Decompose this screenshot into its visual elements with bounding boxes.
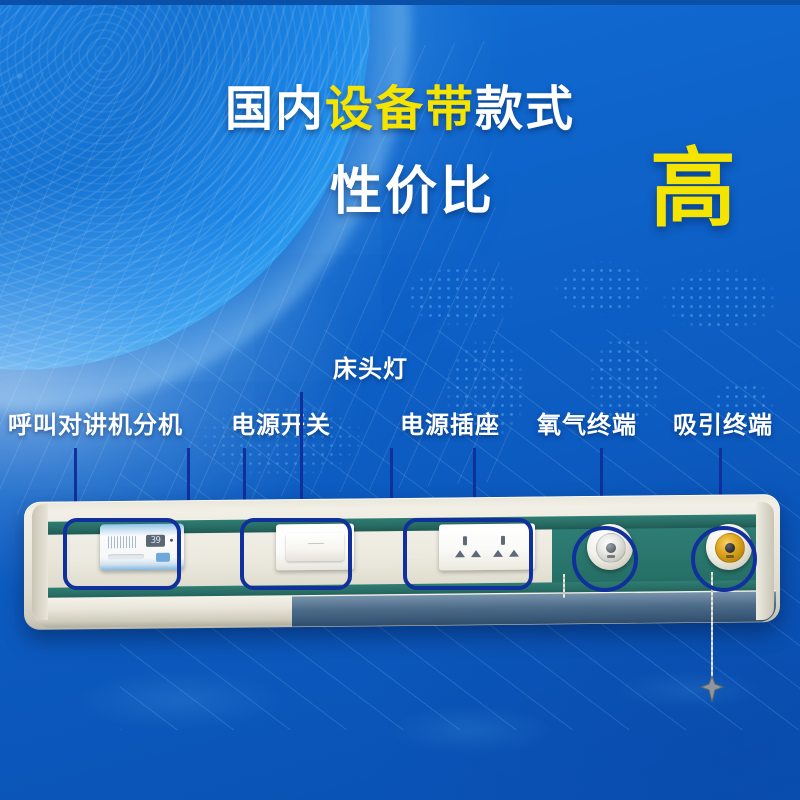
highlight-oxygen	[572, 526, 638, 592]
highlight-power-switch	[240, 518, 352, 590]
callout-label-power-switch: 电源开关	[231, 414, 331, 438]
bottom-map-glow	[0, 640, 800, 800]
highlight-power-socket	[403, 518, 533, 590]
highlight-intercom	[63, 518, 181, 590]
headline: 国内设备带款式	[0, 86, 800, 134]
highlight-suction	[691, 526, 757, 592]
panel-end-cap-right	[756, 502, 774, 620]
callout-label-bed-lamp: 床头灯	[333, 358, 408, 382]
emphasis-character: 高	[650, 146, 736, 232]
panel-lower-rail-shadow	[292, 591, 776, 626]
panel-end-cap-left	[32, 504, 48, 620]
callout-label-suction: 吸引终端	[673, 414, 773, 438]
poster-canvas: 国内设备带款式 性价比 高 呼叫对讲机分机 电源开关 床头灯 电源插座 氧气终端…	[0, 0, 800, 800]
headline-part-1: 国内	[225, 83, 325, 136]
subheadline: 性价比	[330, 166, 495, 218]
pull-cord-handle[interactable]	[700, 676, 724, 702]
headline-part-2: 设备带	[325, 83, 475, 136]
oxygen-terminal-cord	[563, 574, 565, 598]
callout-label-power-socket: 电源插座	[400, 414, 500, 438]
top-edge-bar	[0, 0, 800, 5]
callout-label-intercom: 呼叫对讲机分机	[8, 414, 183, 438]
callout-label-oxygen: 氧气终端	[537, 414, 637, 438]
headline-part-3: 款式	[475, 83, 575, 136]
